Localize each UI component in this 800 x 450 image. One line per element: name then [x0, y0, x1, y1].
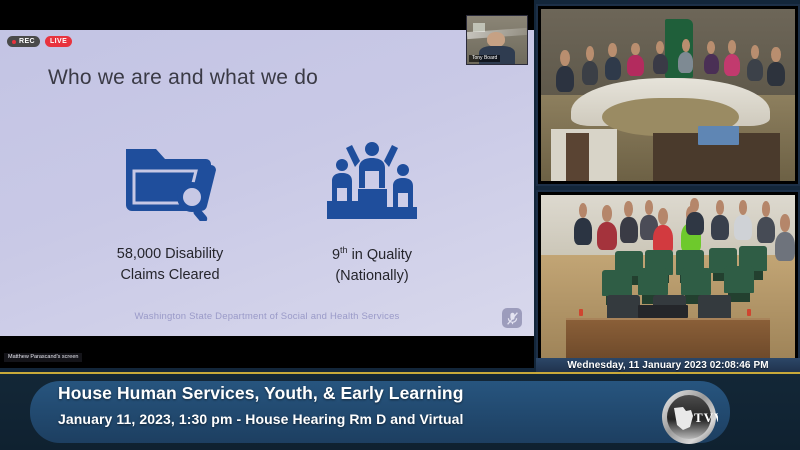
seated-person	[767, 62, 785, 86]
gallery-chair	[638, 268, 668, 295]
desk-monitor	[698, 126, 739, 145]
slide-stat-quality-rank: 9th in Quality (Nationally)	[262, 130, 482, 287]
rank-ordinal-suffix: th	[340, 245, 348, 255]
audience-person	[775, 232, 795, 262]
record-dot-icon	[12, 40, 16, 44]
rank-text: in Quality	[348, 247, 412, 263]
screen-share-owner-label: Matthew Parascand's screen	[4, 353, 82, 363]
audience-person	[574, 218, 592, 245]
stat-line-2: (Nationally)	[262, 266, 482, 287]
seated-person	[678, 52, 693, 73]
drink-cup	[747, 309, 751, 316]
feed-image	[541, 195, 795, 361]
gallery-chair	[724, 266, 754, 293]
presentation-slide: Who we are and what we do 58,000 Disabil…	[0, 30, 534, 336]
folder-search-icon	[60, 130, 280, 230]
seated-person	[556, 66, 574, 92]
slide-title: Who we are and what we do	[48, 66, 318, 90]
audience-person	[620, 217, 638, 244]
seated-person	[627, 55, 644, 76]
stat-caption: 58,000 Disability Claims Cleared	[60, 244, 280, 286]
recording-badge: REC	[7, 36, 40, 47]
stat-line-1: 9th in Quality	[262, 244, 482, 266]
banner-text-group: House Human Services, Youth, & Early Lea…	[58, 383, 648, 427]
audience-person	[597, 222, 617, 250]
tvw-logo-icon: TVW	[660, 388, 718, 446]
thumbnail-head	[487, 32, 505, 46]
live-badge: LIVE	[45, 36, 72, 47]
stat-line-2: Claims Cleared	[60, 265, 280, 286]
participant-thumbnail[interactable]: Tony Board	[466, 15, 528, 65]
drink-cup	[579, 309, 583, 316]
banner-title: House Human Services, Youth, & Early Lea…	[58, 383, 648, 404]
audience-person	[734, 215, 752, 240]
testimony-chair	[607, 295, 640, 320]
hearing-room-camera-feed	[536, 4, 800, 186]
svg-text:TVW: TVW	[694, 410, 718, 425]
seated-person	[724, 54, 741, 76]
seated-person	[747, 59, 764, 81]
stat-caption: 9th in Quality (Nationally)	[262, 244, 482, 287]
side-desk-post	[566, 133, 589, 181]
rank-number: 9	[332, 247, 340, 263]
gallery-chair	[681, 268, 711, 295]
gallery-chair	[602, 270, 632, 297]
testimony-table	[566, 318, 769, 361]
share-top-letterbox	[0, 0, 534, 30]
seated-person	[582, 61, 599, 85]
audience-person	[757, 217, 775, 244]
podium-winner-icon	[262, 130, 482, 230]
seated-person	[653, 54, 668, 75]
feed-image	[541, 9, 795, 181]
slide-stat-disability-claims: 58,000 Disability Claims Cleared	[60, 130, 280, 286]
recording-label: REC	[19, 38, 35, 45]
testimony-chair	[698, 295, 731, 320]
laptop	[638, 305, 689, 318]
participant-name-label: Tony Board	[469, 55, 500, 62]
stat-line-1: 58,000 Disability	[60, 244, 280, 265]
microphone-muted-icon[interactable]	[502, 308, 522, 328]
broadcast-timestamp: Wednesday, 11 January 2023 02:08:46 PM	[536, 358, 800, 372]
shared-screen-pane: REC LIVE Who we are and what we do	[0, 0, 534, 368]
audience-person	[711, 215, 729, 240]
seated-person	[605, 57, 622, 79]
banner-subtitle: January 11, 2023, 1:30 pm - House Hearin…	[58, 411, 648, 427]
broadcast-stage: REC LIVE Who we are and what we do	[0, 0, 800, 450]
stream-status-badges: REC LIVE	[7, 36, 72, 47]
audience-gallery-camera-feed	[536, 190, 800, 366]
slide-footer: Washington State Department of Social an…	[0, 311, 534, 322]
audience-person	[686, 212, 704, 235]
seated-person	[704, 54, 719, 75]
